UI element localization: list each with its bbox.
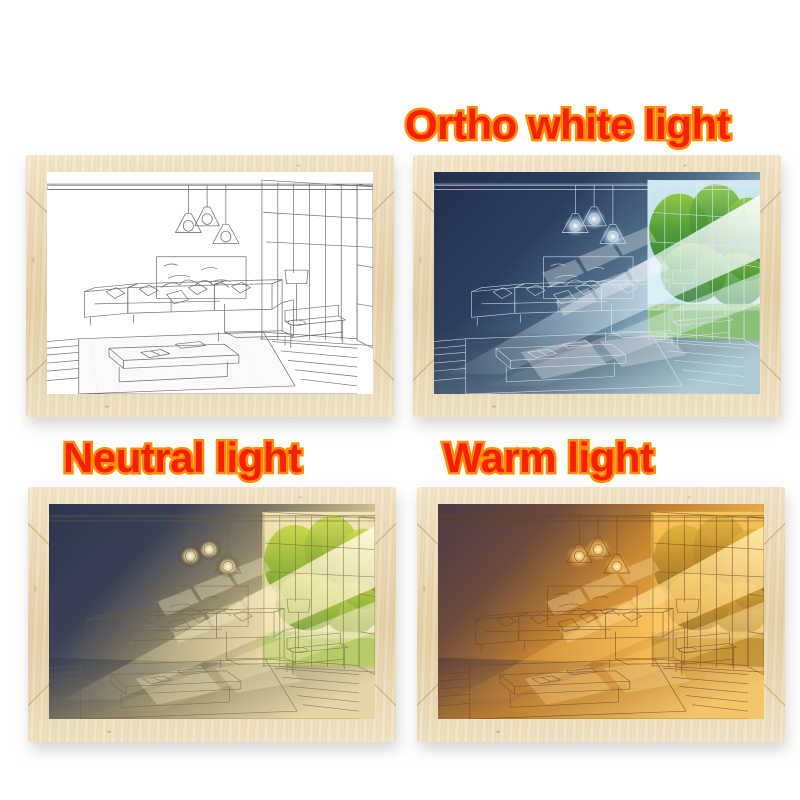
label-warm-light: Warm light Warm light bbox=[443, 437, 653, 479]
frame-panel-neutral[interactable] bbox=[28, 487, 396, 742]
label-neutral-fill: Neutral light bbox=[63, 434, 302, 481]
artwork-area-warm bbox=[438, 504, 764, 719]
scene-line-art bbox=[47, 172, 373, 394]
label-warm-fill: Warm light bbox=[443, 434, 653, 481]
scene-ortho-white bbox=[434, 172, 760, 394]
artwork-area-ortho-white bbox=[434, 172, 760, 394]
scene-neutral bbox=[49, 504, 375, 719]
scene-warm bbox=[438, 504, 764, 719]
frame-panel-warm[interactable] bbox=[417, 487, 785, 742]
frame-panel-ortho-white[interactable] bbox=[413, 155, 781, 417]
label-neutral-light: Neutral light Neutral light bbox=[63, 437, 302, 479]
label-ortho-fill: Ortho white light bbox=[405, 101, 730, 148]
artwork-area-neutral bbox=[49, 504, 375, 719]
label-ortho-white-light: Ortho white light Ortho white light bbox=[405, 104, 730, 146]
frame-panel-unlit[interactable] bbox=[26, 155, 394, 417]
product-image-stage: Ortho white light Ortho white light bbox=[0, 0, 800, 800]
artwork-area-unlit bbox=[47, 172, 373, 394]
